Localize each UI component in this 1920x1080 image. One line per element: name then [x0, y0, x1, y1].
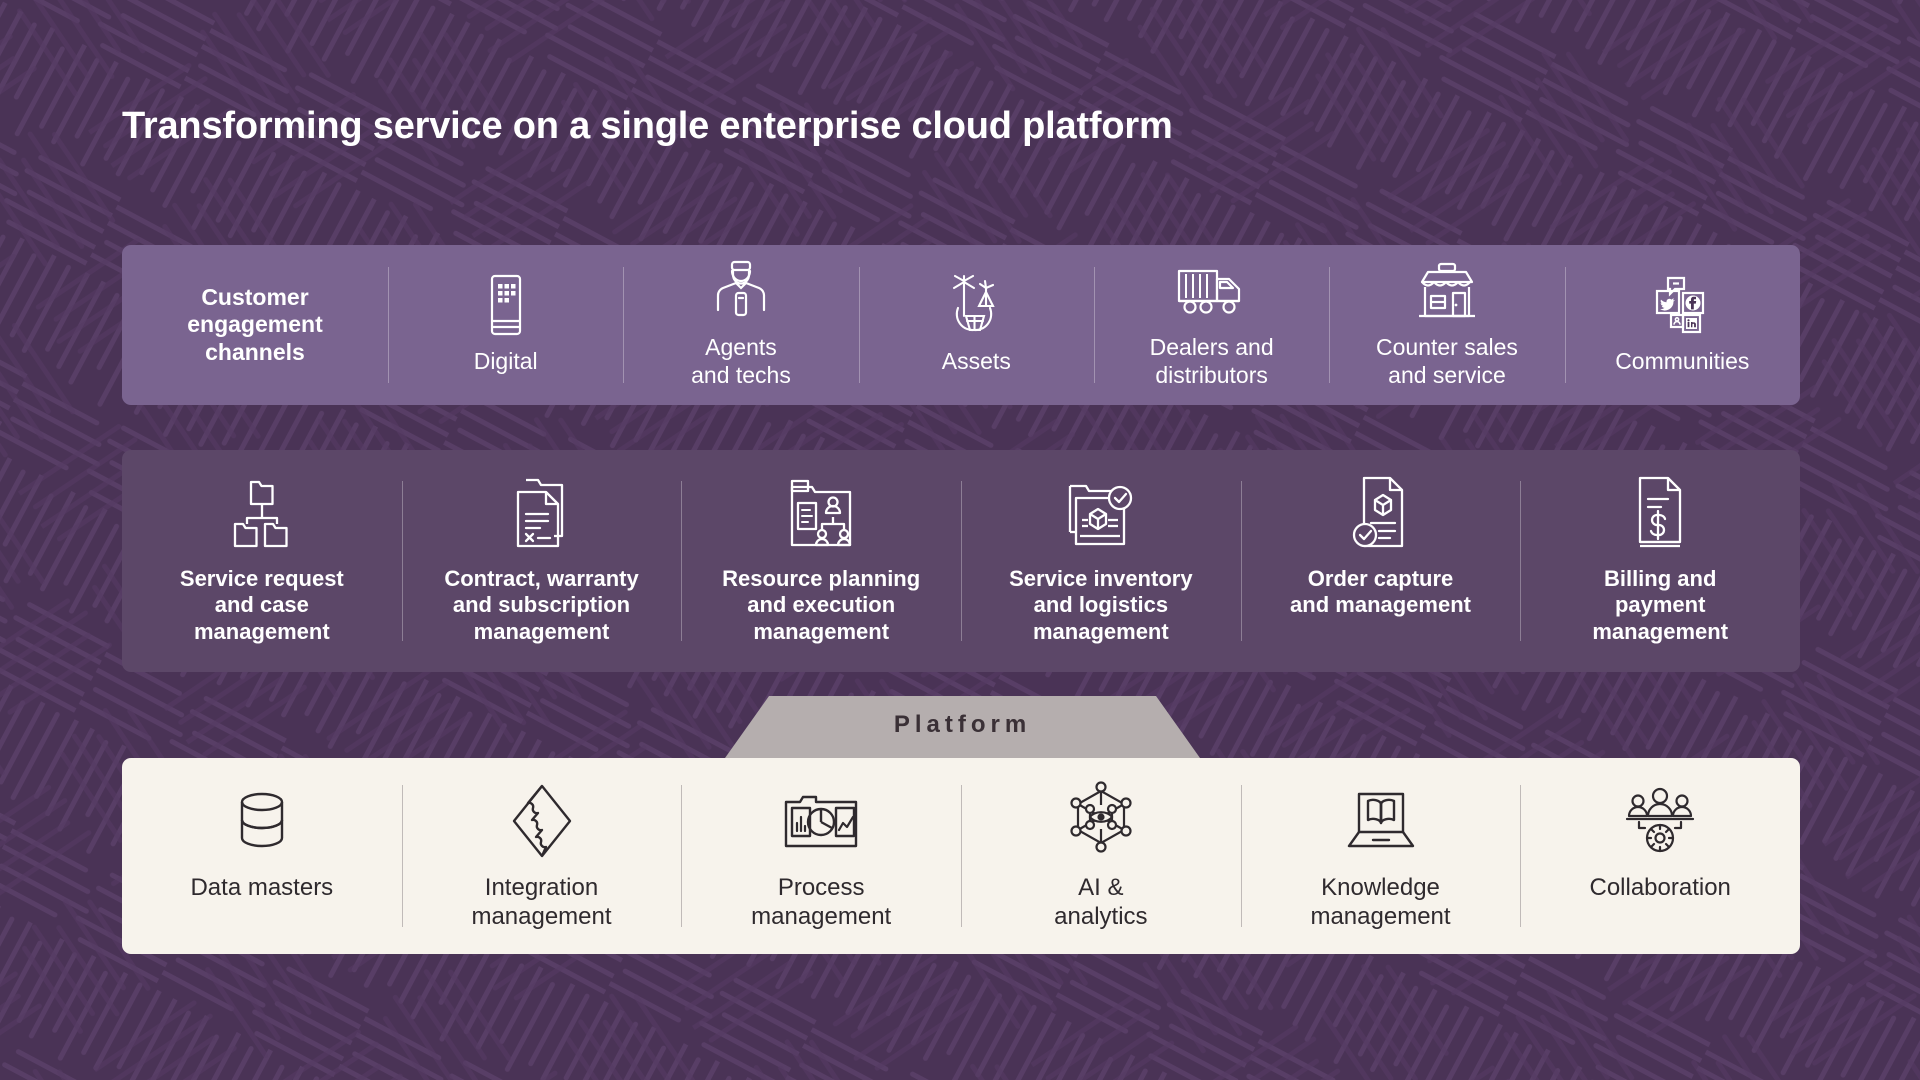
- wind-turbine-solar-assets-icon: [946, 274, 1006, 336]
- label-line: Process: [751, 874, 891, 903]
- dashboard-charts-icon: [782, 782, 860, 860]
- label-line: management: [180, 619, 344, 645]
- label-line: Counter sales: [1376, 334, 1518, 362]
- label-line: management: [471, 903, 611, 932]
- row3-item-label: Process management: [751, 874, 891, 932]
- row1-item-label: Assets: [942, 348, 1011, 376]
- label-line: payment: [1592, 592, 1728, 618]
- label-line: and subscription: [444, 592, 638, 618]
- label-line: and techs: [691, 362, 791, 390]
- row1-item-communities[interactable]: Communities: [1565, 245, 1800, 405]
- label-line: AI &: [1054, 874, 1147, 903]
- row2-item-label: Billing and payment management: [1592, 566, 1728, 645]
- label-line: Order capture: [1290, 566, 1471, 592]
- label-line: management: [1310, 903, 1450, 932]
- label-line: Dealers and: [1150, 334, 1274, 362]
- label-line: and management: [1290, 592, 1471, 618]
- resource-board-icon: [788, 476, 854, 550]
- label-line: Integration: [471, 874, 611, 903]
- row2-item-service-request-and-case-management[interactable]: Service request and case management: [122, 450, 402, 672]
- puzzle-diamond-icon: [508, 782, 576, 860]
- inventory-check-icon: [1066, 476, 1136, 550]
- row1-item-assets[interactable]: Assets: [859, 245, 1094, 405]
- row2-item-label: Contract, warranty and subscription mana…: [444, 566, 638, 645]
- label-line: Contract, warranty: [444, 566, 638, 592]
- laptop-book-icon: [1345, 782, 1417, 860]
- signed-document-icon: [512, 476, 572, 550]
- row1-item-agents-and-techs[interactable]: Agents and techs: [623, 245, 858, 405]
- folder-hierarchy-icon: [231, 476, 293, 550]
- cell-divider: [402, 785, 403, 926]
- row3-item-label: Collaboration: [1589, 874, 1730, 903]
- platform-capabilities-row: Data masters Integration management: [122, 758, 1800, 954]
- label-line: management: [444, 619, 638, 645]
- row1-item-label: Counter sales and service: [1376, 334, 1518, 389]
- cell-divider: [1241, 785, 1242, 926]
- row2-item-label: Service inventory and logistics manageme…: [1009, 566, 1192, 645]
- customer-engagement-channels-row: Customer engagement channels: [122, 245, 1800, 405]
- row2-item-label: Resource planning and execution manageme…: [722, 566, 920, 645]
- label-line: Collaboration: [1589, 874, 1730, 903]
- cell-divider: [961, 481, 962, 641]
- label-line: Billing and: [1592, 566, 1728, 592]
- label-line: and case: [180, 592, 344, 618]
- row1-item-dealers-and-distributors[interactable]: Dealers and distributors: [1094, 245, 1329, 405]
- row3-item-label: Integration management: [471, 874, 611, 932]
- row2-item-order-capture-and-management[interactable]: Order capture and management: [1241, 450, 1521, 672]
- label-line: Resource planning: [722, 566, 920, 592]
- cell-divider: [388, 267, 389, 382]
- cell-divider: [1241, 481, 1242, 641]
- label-line: Agents: [705, 334, 777, 362]
- row3-item-label: AI & analytics: [1054, 874, 1147, 932]
- cell-divider: [1094, 267, 1095, 382]
- label-line: and execution: [722, 592, 920, 618]
- row3-item-data-masters[interactable]: Data masters: [122, 758, 402, 954]
- row2-item-label: Service request and case management: [180, 566, 344, 645]
- order-document-icon: [1352, 476, 1410, 550]
- label-line: Service request: [180, 566, 344, 592]
- cell-divider: [402, 481, 403, 641]
- label-line: and logistics: [1009, 592, 1192, 618]
- cell-divider: [681, 481, 682, 641]
- database-icon: [234, 782, 290, 860]
- neural-network-eye-icon: [1068, 782, 1134, 860]
- diagram-canvas: Transforming service on a single enterpr…: [0, 0, 1920, 1080]
- page-title: Transforming service on a single enterpr…: [122, 105, 1173, 148]
- label-line: management: [1592, 619, 1728, 645]
- cell-divider: [623, 267, 624, 382]
- label-line: Data masters: [190, 874, 333, 903]
- label-line: distributors: [1155, 362, 1267, 390]
- cell-divider: [859, 267, 860, 382]
- row3-item-process-management[interactable]: Process management: [681, 758, 961, 954]
- label-line: Service inventory: [1009, 566, 1192, 592]
- invoice-dollar-icon: [1634, 476, 1686, 550]
- row1-heading-line: channels: [187, 339, 322, 367]
- row3-item-knowledge-management[interactable]: Knowledge management: [1241, 758, 1521, 954]
- cell-divider: [961, 785, 962, 926]
- row3-item-integration-management[interactable]: Integration management: [402, 758, 682, 954]
- storefront-icon: [1416, 260, 1478, 322]
- cell-divider: [1520, 481, 1521, 641]
- platform-label: Platform: [894, 711, 1031, 743]
- row1-item-label: Communities: [1615, 348, 1749, 376]
- row3-item-label: Data masters: [190, 874, 333, 903]
- row1-item-counter-sales-and-service[interactable]: Counter sales and service: [1329, 245, 1564, 405]
- label-line: and service: [1388, 362, 1506, 390]
- row1-item-label: Digital: [474, 348, 538, 376]
- cell-divider: [681, 785, 682, 926]
- label-line: management: [1009, 619, 1192, 645]
- platform-tab: Platform: [725, 696, 1200, 758]
- cell-divider: [1329, 267, 1330, 382]
- label-line: Knowledge: [1310, 874, 1450, 903]
- mobile-device-icon: [486, 274, 526, 336]
- row1-item-label: Dealers and distributors: [1150, 334, 1274, 389]
- row3-item-ai-and-analytics[interactable]: AI & analytics: [961, 758, 1241, 954]
- delivery-truck-icon: [1177, 260, 1247, 322]
- row1-item-digital[interactable]: Digital: [388, 245, 623, 405]
- label-line: Digital: [474, 348, 538, 376]
- label-line: Assets: [942, 348, 1011, 376]
- team-gear-icon: [1623, 782, 1697, 860]
- cell-divider: [1520, 785, 1521, 926]
- row1-heading-line: Customer: [187, 284, 322, 312]
- label-line: management: [751, 903, 891, 932]
- row2-item-contract-warranty-subscription-management[interactable]: Contract, warranty and subscription mana…: [402, 450, 682, 672]
- label-line: analytics: [1054, 903, 1147, 932]
- social-media-tiles-icon: [1653, 274, 1711, 336]
- row1-heading-cell: Customer engagement channels: [122, 245, 388, 405]
- row3-item-label: Knowledge management: [1310, 874, 1450, 932]
- row2-item-service-inventory-and-logistics-management[interactable]: Service inventory and logistics manageme…: [961, 450, 1241, 672]
- service-processes-row: Service request and case management: [122, 450, 1800, 672]
- agent-person-icon: [714, 260, 768, 322]
- row2-item-resource-planning-and-execution-management[interactable]: Resource planning and execution manageme…: [681, 450, 961, 672]
- row1-heading-line: engagement: [187, 311, 322, 339]
- label-line: management: [722, 619, 920, 645]
- row2-item-label: Order capture and management: [1290, 566, 1471, 619]
- row1-heading: Customer engagement channels: [187, 284, 322, 367]
- label-line: Communities: [1615, 348, 1749, 376]
- row3-item-collaboration[interactable]: Collaboration: [1520, 758, 1800, 954]
- cell-divider: [1565, 267, 1566, 382]
- row1-item-label: Agents and techs: [691, 334, 791, 389]
- row2-item-billing-and-payment-management[interactable]: Billing and payment management: [1520, 450, 1800, 672]
